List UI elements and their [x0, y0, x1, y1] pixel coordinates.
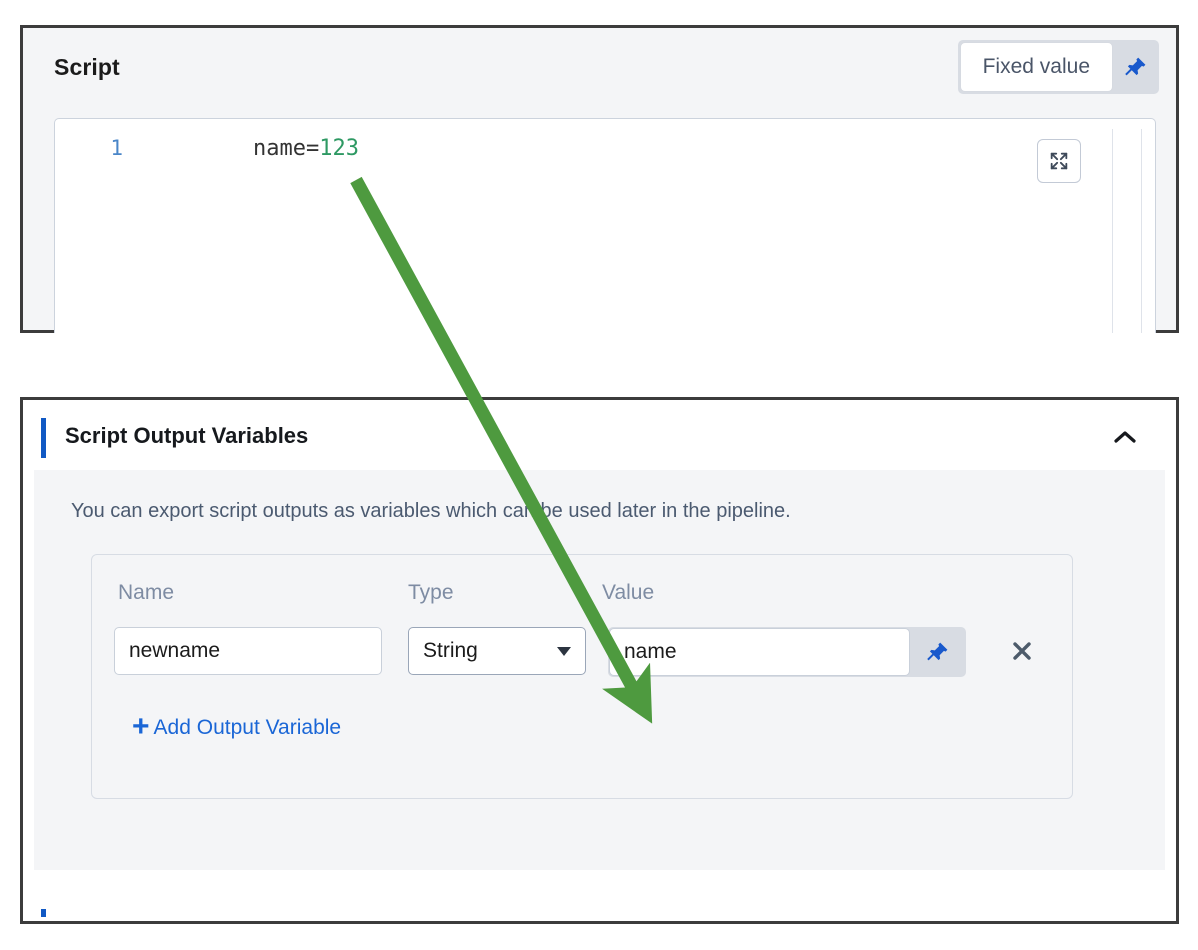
- collapse-section-button[interactable]: [1108, 422, 1142, 452]
- section-title: Script Output Variables: [65, 423, 308, 449]
- section-description: You can export script outputs as variabl…: [71, 500, 791, 523]
- script-output-variables-body: You can export script outputs as variabl…: [34, 470, 1165, 870]
- script-pin-button[interactable]: [1113, 40, 1159, 94]
- add-output-variable-button[interactable]: + Add Output Variable: [132, 713, 341, 743]
- page-title: Script: [54, 54, 120, 81]
- variable-value-input[interactable]: name: [609, 628, 910, 676]
- code-content: name=123: [253, 136, 359, 161]
- editor-scrollbar[interactable]: [1112, 129, 1142, 333]
- table-row: newname String name: [92, 627, 1072, 679]
- line-number: 1: [55, 136, 123, 160]
- screenshot-root: Script Fixed value 1 name=123: [0, 0, 1198, 950]
- add-output-variable-label: Add Output Variable: [154, 716, 342, 740]
- variable-type-value: String: [423, 639, 478, 663]
- variable-value-pin-button[interactable]: [910, 627, 966, 677]
- script-code-editor[interactable]: 1 name=123: [54, 118, 1156, 333]
- pin-icon: [926, 640, 950, 664]
- script-panel: Script Fixed value 1 name=123: [20, 25, 1179, 333]
- expand-icon: [1048, 150, 1070, 172]
- fixed-value-button[interactable]: Fixed value: [960, 42, 1113, 92]
- chevron-down-icon: [557, 647, 571, 656]
- fixed-value-group: Fixed value: [958, 40, 1159, 94]
- column-header-name: Name: [118, 581, 174, 605]
- script-panel-header: Script Fixed value: [23, 28, 1176, 118]
- table-column-headers: Name Type Value: [92, 581, 1072, 611]
- close-icon: [1009, 638, 1035, 664]
- script-output-variables-panel: Script Output Variables You can export s…: [20, 397, 1179, 924]
- plus-icon: +: [132, 712, 150, 742]
- code-assignment-target: name=: [253, 136, 319, 161]
- output-variables-table: Name Type Value newname String name: [91, 554, 1073, 799]
- next-section-accent-stub: [41, 909, 46, 917]
- column-header-value: Value: [602, 581, 654, 605]
- expand-editor-button[interactable]: [1037, 139, 1081, 183]
- column-header-type: Type: [408, 581, 454, 605]
- chevron-up-icon: [1112, 428, 1138, 446]
- remove-variable-button[interactable]: [1000, 629, 1044, 673]
- script-output-variables-header: Script Output Variables: [23, 400, 1176, 470]
- section-accent-bar: [41, 418, 46, 458]
- pin-icon: [1124, 55, 1148, 79]
- variable-value-group: name: [608, 627, 966, 677]
- code-line-1: 1 name=123: [55, 119, 1155, 171]
- variable-type-select[interactable]: String: [408, 627, 586, 675]
- variable-name-input[interactable]: newname: [114, 627, 382, 675]
- code-literal-value: 123: [319, 136, 359, 161]
